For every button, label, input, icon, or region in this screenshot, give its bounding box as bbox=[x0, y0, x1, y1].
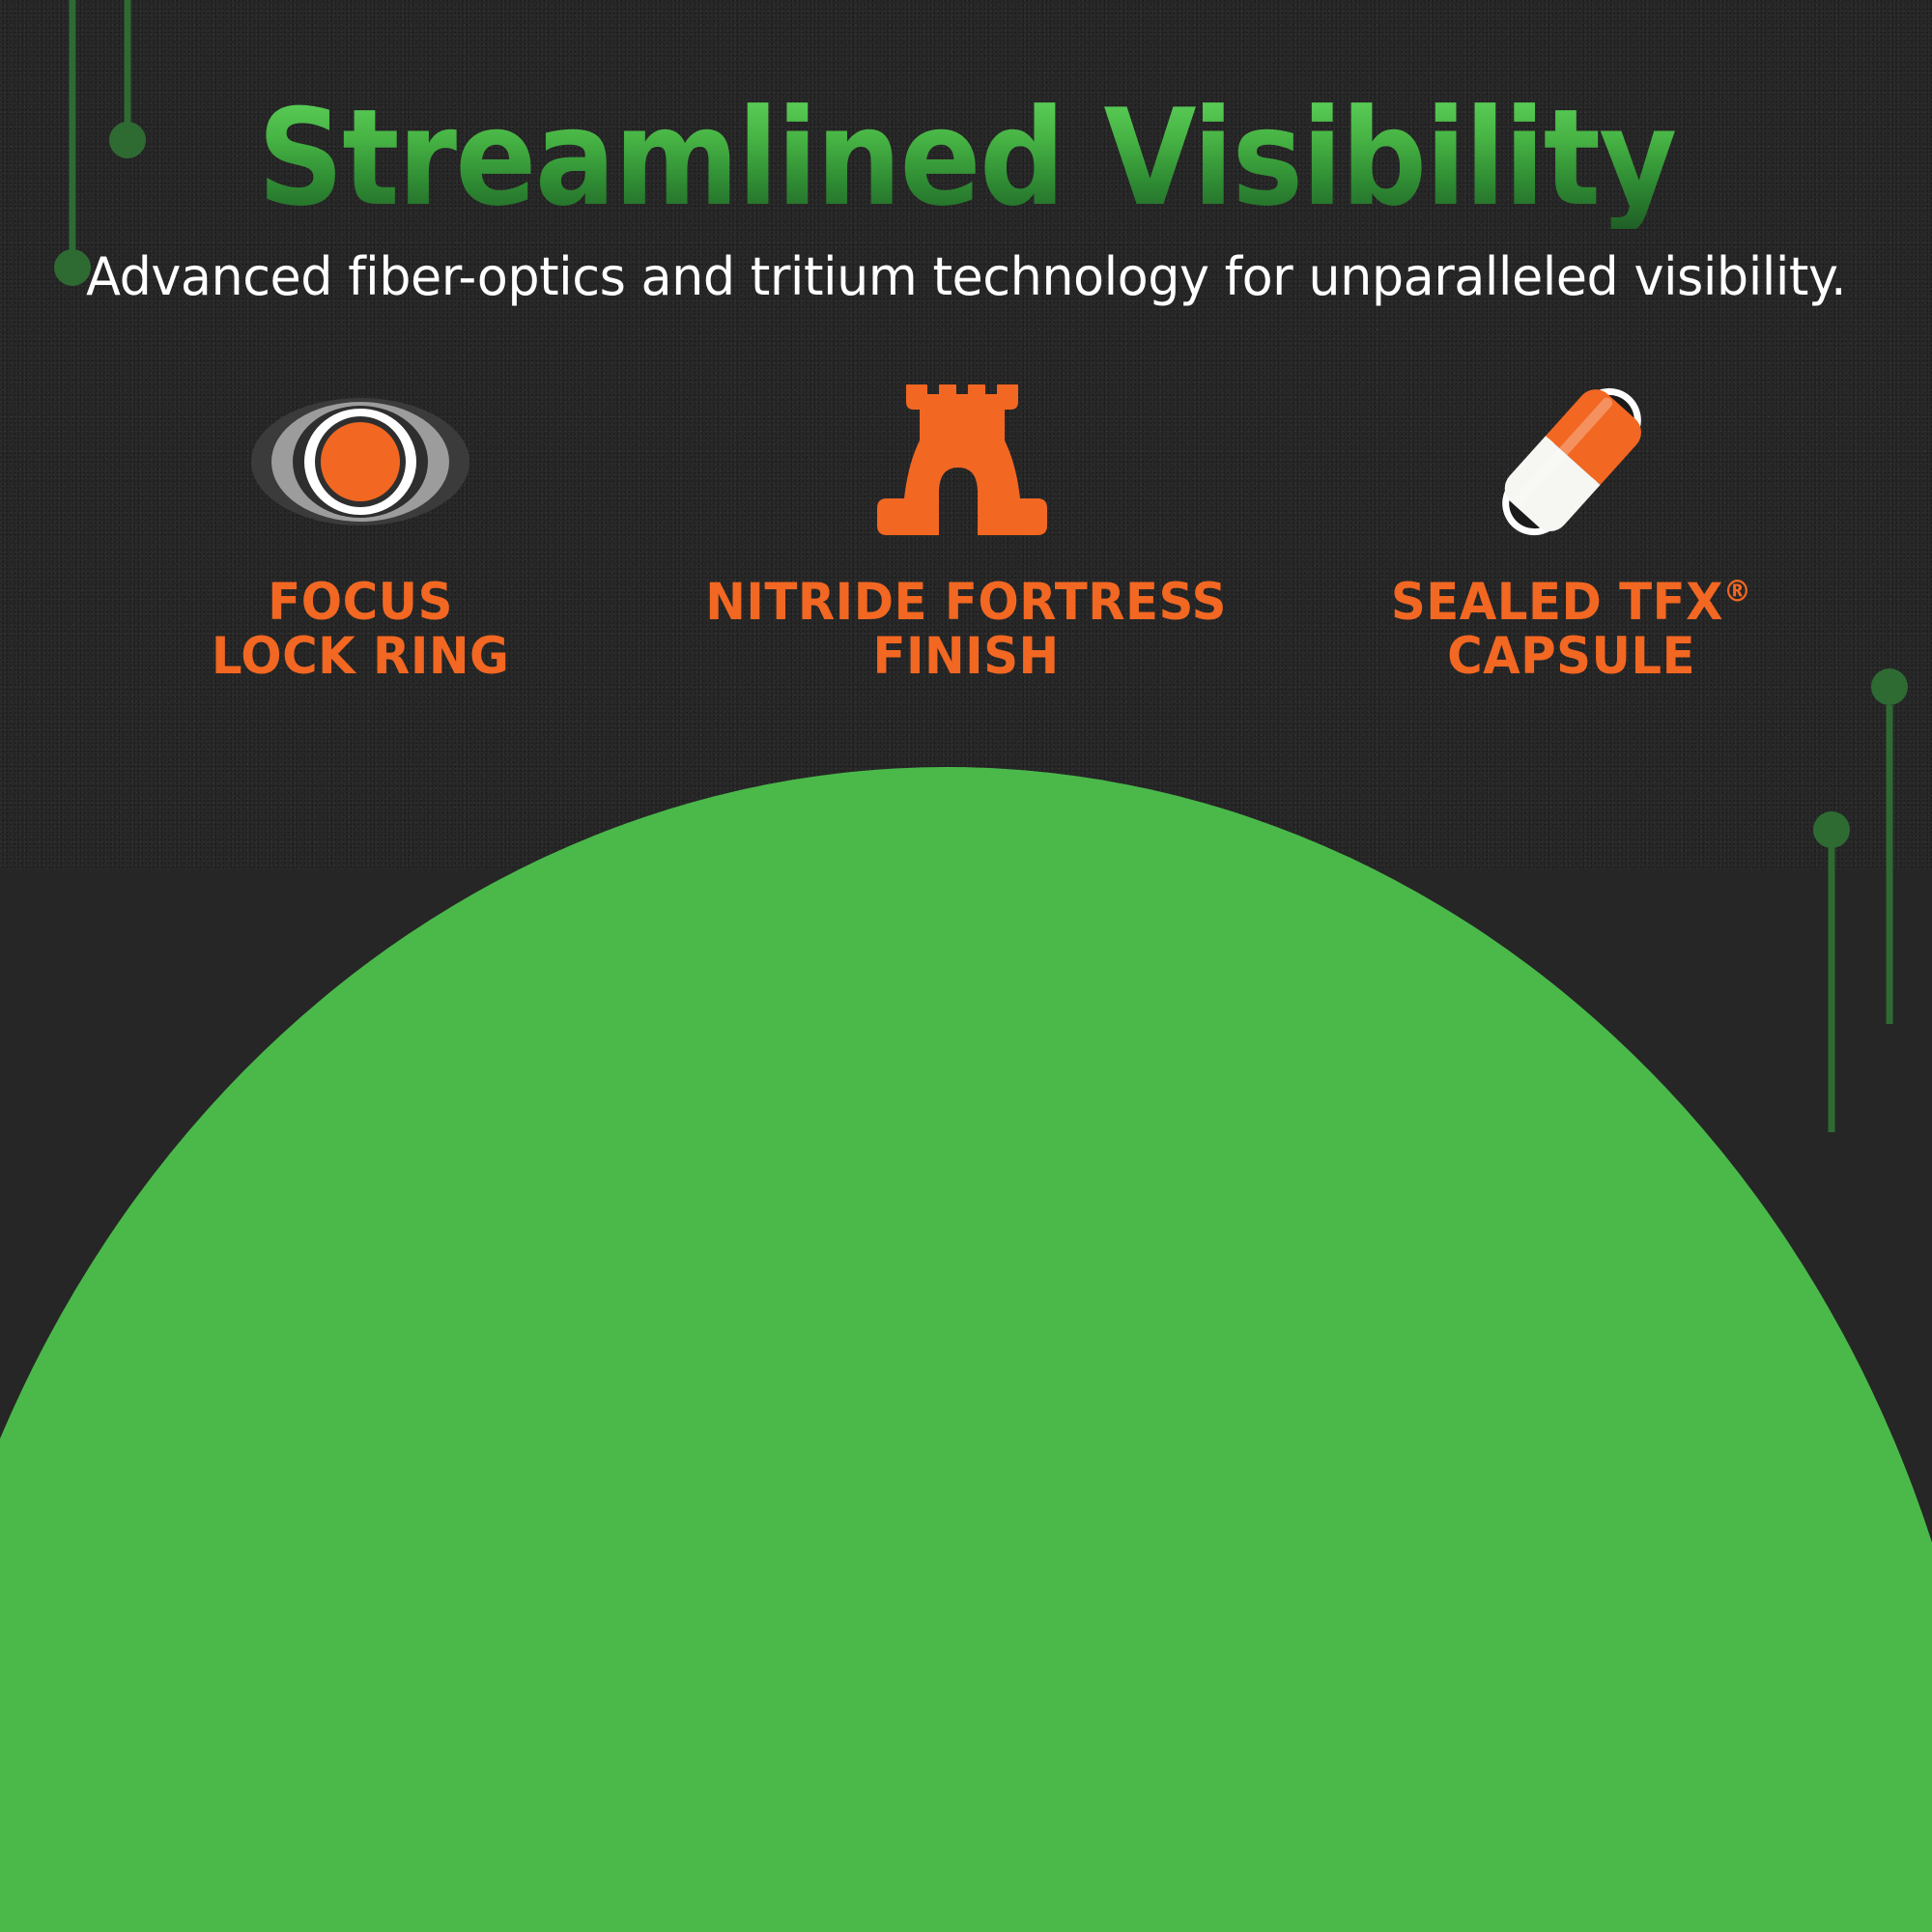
feature-label-focus-lock-ring: FOCUS LOCK RING bbox=[212, 576, 510, 684]
feature-row: FOCUS LOCK RING NITRIDE FORTRESS FINISH bbox=[58, 372, 1874, 684]
nitride-fortress-castle-icon bbox=[869, 384, 1063, 539]
feature-label-sealed-tfx-capsule: SEALED TFX® CAPSULE bbox=[1391, 576, 1751, 684]
decor-pin-stem bbox=[1887, 705, 1893, 1024]
sealed-tfx-capsule-icon bbox=[1480, 380, 1663, 544]
feature-icon-slot bbox=[249, 372, 471, 551]
decor-pin-dot bbox=[1813, 811, 1850, 848]
subheadline-container: Advanced fiber-optics and tritium techno… bbox=[0, 246, 1932, 307]
feature-label-line-1: NITRIDE FORTRESS bbox=[705, 573, 1227, 632]
feature-focus-lock-ring: FOCUS LOCK RING bbox=[58, 372, 664, 684]
headline-container: Streamlined Visibility bbox=[0, 89, 1932, 229]
feature-label-line-2: LOCK RING bbox=[212, 627, 510, 686]
feature-nitride-fortress-finish: NITRIDE FORTRESS FINISH bbox=[664, 372, 1269, 684]
decor-pin-dot bbox=[1871, 668, 1908, 705]
marketing-poster: Streamlined Visibility Advanced fiber-op… bbox=[0, 0, 1932, 1932]
feature-icon-slot bbox=[869, 372, 1063, 551]
feature-icon-slot bbox=[1480, 372, 1663, 551]
page-subtitle: Advanced fiber-optics and tritium techno… bbox=[86, 246, 1846, 307]
feature-label-nitride-fortress-finish: NITRIDE FORTRESS FINISH bbox=[705, 576, 1227, 684]
feature-sealed-tfx-capsule: SEALED TFX® CAPSULE bbox=[1268, 372, 1874, 684]
decor-pin-stem bbox=[1829, 842, 1835, 1132]
page-title: Streamlined Visibility bbox=[257, 89, 1675, 229]
feature-label-line-2: FINISH bbox=[872, 627, 1059, 686]
registered-trademark-symbol: ® bbox=[1723, 574, 1751, 609]
feature-label-line-1: FOCUS bbox=[269, 573, 454, 632]
green-arc-divider bbox=[0, 759, 1932, 1932]
feature-label-line-1: SEALED TFX bbox=[1391, 573, 1723, 632]
feature-label-line-2: CAPSULE bbox=[1447, 627, 1695, 686]
focus-lock-ring-icon bbox=[249, 394, 471, 529]
